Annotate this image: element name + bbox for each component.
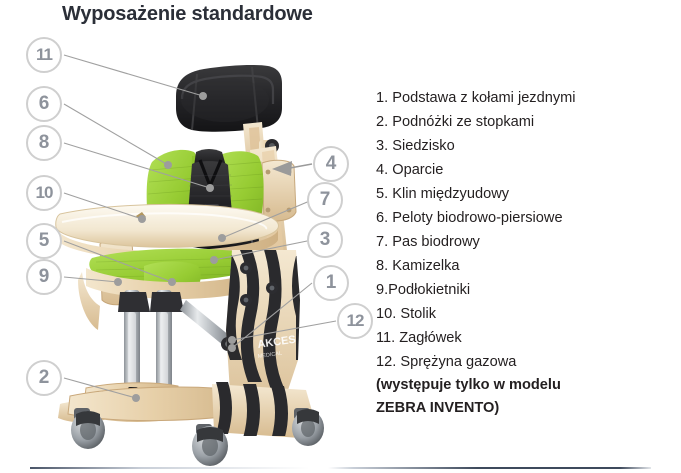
callout-6[interactable]: 6: [26, 86, 62, 122]
callout-5[interactable]: 5: [26, 223, 62, 259]
callout-3[interactable]: 3: [307, 222, 343, 258]
callout-10[interactable]: 10: [26, 175, 62, 211]
arrow-to-backrest: [272, 161, 312, 176]
callout-1[interactable]: 1: [313, 265, 349, 301]
callout-2[interactable]: 2: [26, 360, 62, 396]
callout-12[interactable]: 12: [337, 303, 373, 339]
callout-9[interactable]: 9: [26, 259, 62, 295]
callout-11[interactable]: 11: [26, 37, 62, 73]
callout-7[interactable]: 7: [307, 182, 343, 218]
slide-canvas: Wyposażenie standardowe: [0, 0, 681, 473]
callout-8[interactable]: 8: [26, 125, 62, 161]
bottom-divider: [30, 467, 651, 469]
callout-4[interactable]: 4: [313, 146, 349, 182]
